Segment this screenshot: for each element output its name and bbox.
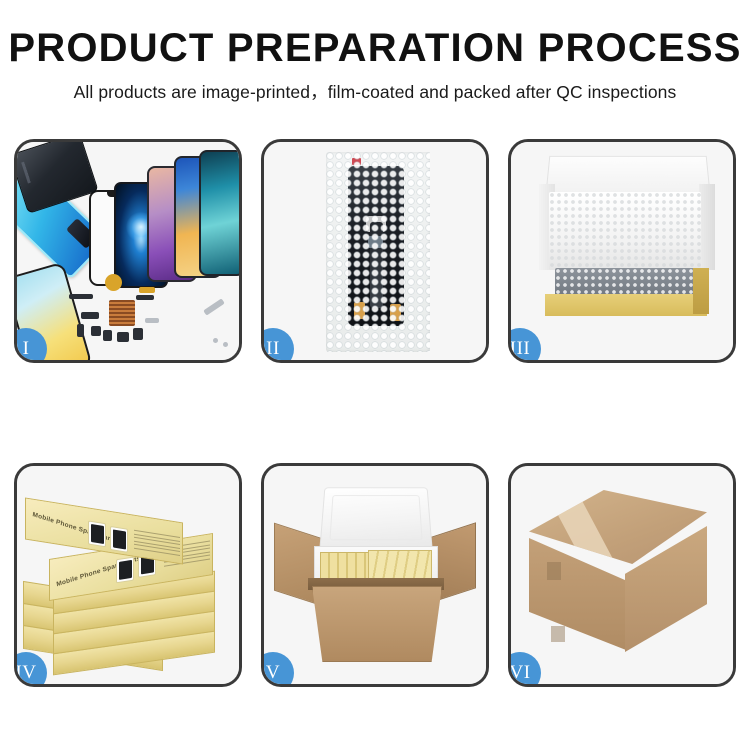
box-art-phone (110, 526, 128, 553)
step-panel-3: III (508, 139, 736, 363)
taptic-part-icon (117, 332, 129, 342)
steps-grid: I II (0, 139, 750, 687)
sim-tray-icon (103, 330, 112, 341)
gold-tray-side-icon (693, 268, 709, 314)
step-4-image: Mobile Phone Spare Parts Mobile Phone Sp… (17, 466, 239, 684)
step-3-image: III (511, 142, 733, 360)
flex-part-icon (139, 287, 155, 293)
step-panel-2: II (261, 139, 489, 363)
step-1-image: I (17, 142, 239, 360)
page-title: PRODUCT PREPARATION PROCESS (0, 26, 750, 70)
step-badge-2: II (264, 328, 294, 360)
screw-icon (223, 342, 228, 347)
foam-sheet-icon (549, 192, 701, 270)
step-badge-3: III (511, 328, 541, 360)
step-panel-6: VI (508, 463, 736, 687)
box-art-phone (88, 520, 106, 547)
step-2-image: II (264, 142, 486, 360)
step-badge-5: V (264, 652, 294, 684)
speaker-part-icon (105, 274, 122, 291)
page-subtitle: All products are image-printed，film-coat… (0, 79, 750, 104)
step-panel-1: I (14, 139, 242, 363)
bubble-texture (326, 152, 430, 352)
carton-seam-patch (547, 562, 561, 580)
carton-seam-patch (551, 626, 565, 642)
tweezers-icon (203, 298, 225, 315)
camera-grid-part-icon (109, 300, 135, 326)
foam-lid-icon (319, 487, 432, 549)
box-art-phone (116, 557, 134, 584)
screw-icon (213, 338, 218, 343)
button-flex-part-icon (136, 295, 154, 300)
earpiece-part-icon (69, 294, 93, 299)
step-5-image: V (264, 466, 486, 684)
logic-board-icon (17, 142, 99, 214)
product-preparation-infographic: PRODUCT PREPARATION PROCESS All products… (0, 0, 750, 750)
ic-chip-icon (91, 326, 101, 336)
teal-screen-icon (199, 150, 239, 276)
bubble-bag-icon (326, 152, 430, 352)
box-flap-right-icon (699, 184, 715, 270)
connector-part-icon (81, 312, 99, 319)
carton-body-icon (312, 586, 442, 662)
step-6-image: VI (511, 466, 733, 684)
step-panel-4: Mobile Phone Spare Parts Mobile Phone Sp… (14, 463, 242, 687)
gold-tray-front-icon (545, 294, 707, 316)
step-panel-5: V (261, 463, 489, 687)
box-stack-icon: Mobile Phone Spare Parts Mobile Phone Sp… (23, 484, 235, 674)
bracket-part-icon (145, 318, 159, 323)
header: PRODUCT PREPARATION PROCESS All products… (0, 26, 750, 104)
small-chip-icon (77, 324, 84, 337)
vibrator-part-icon (133, 328, 143, 340)
step-badge-6: VI (511, 652, 541, 684)
